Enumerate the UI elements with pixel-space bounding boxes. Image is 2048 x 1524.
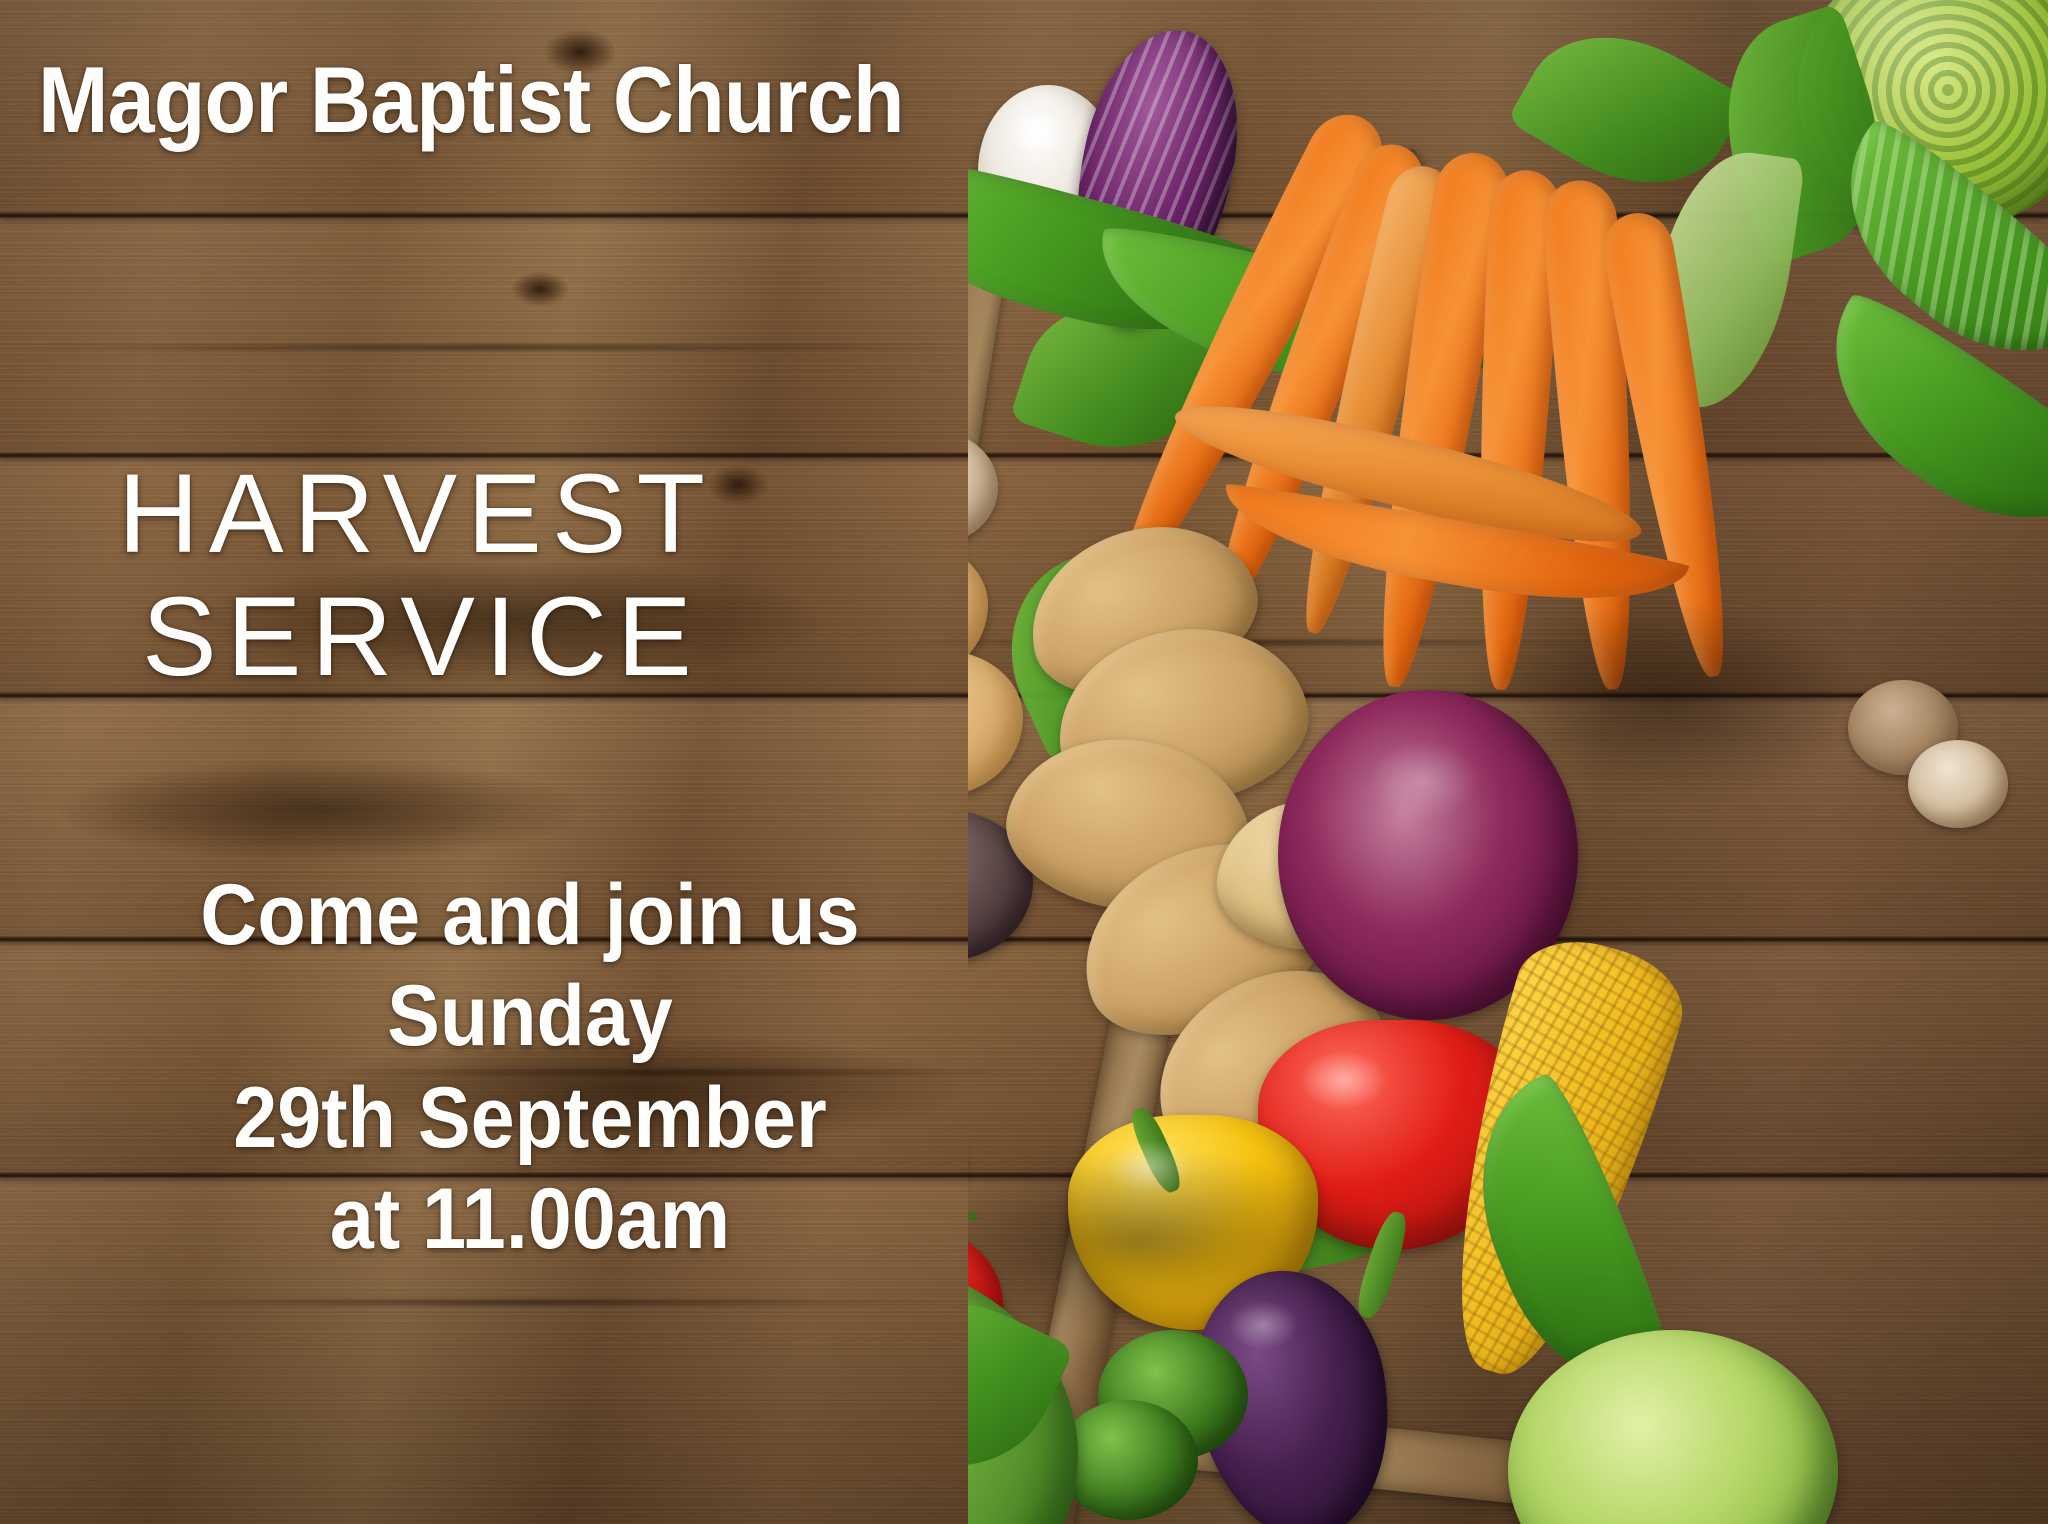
lettuce	[1508, 1330, 1838, 1524]
produce-photo-collage	[968, 0, 2048, 1524]
harvest-service-poster: Magor Baptist Church HARVEST SERVICE Com…	[0, 0, 2048, 1524]
event-title: HARVEST SERVICE	[118, 452, 715, 698]
invitation-line-1: Come and join us	[42, 865, 1017, 966]
chestnut-mushroom	[1908, 740, 2008, 828]
invitation-line-3: 29th September	[42, 1068, 1017, 1169]
chestnut-mushroom	[968, 430, 998, 545]
event-title-line-2: SERVICE	[142, 575, 715, 698]
invitation-block: Come and join us Sunday 29th September a…	[0, 865, 1060, 1271]
courgette	[1058, 1400, 1198, 1520]
invitation-line-2: Sunday	[42, 966, 1017, 1067]
page-title: Magor Baptist Church	[38, 46, 904, 154]
invitation-line-4: at 11.00am	[42, 1169, 1017, 1270]
event-title-line-1: HARVEST	[118, 451, 715, 576]
